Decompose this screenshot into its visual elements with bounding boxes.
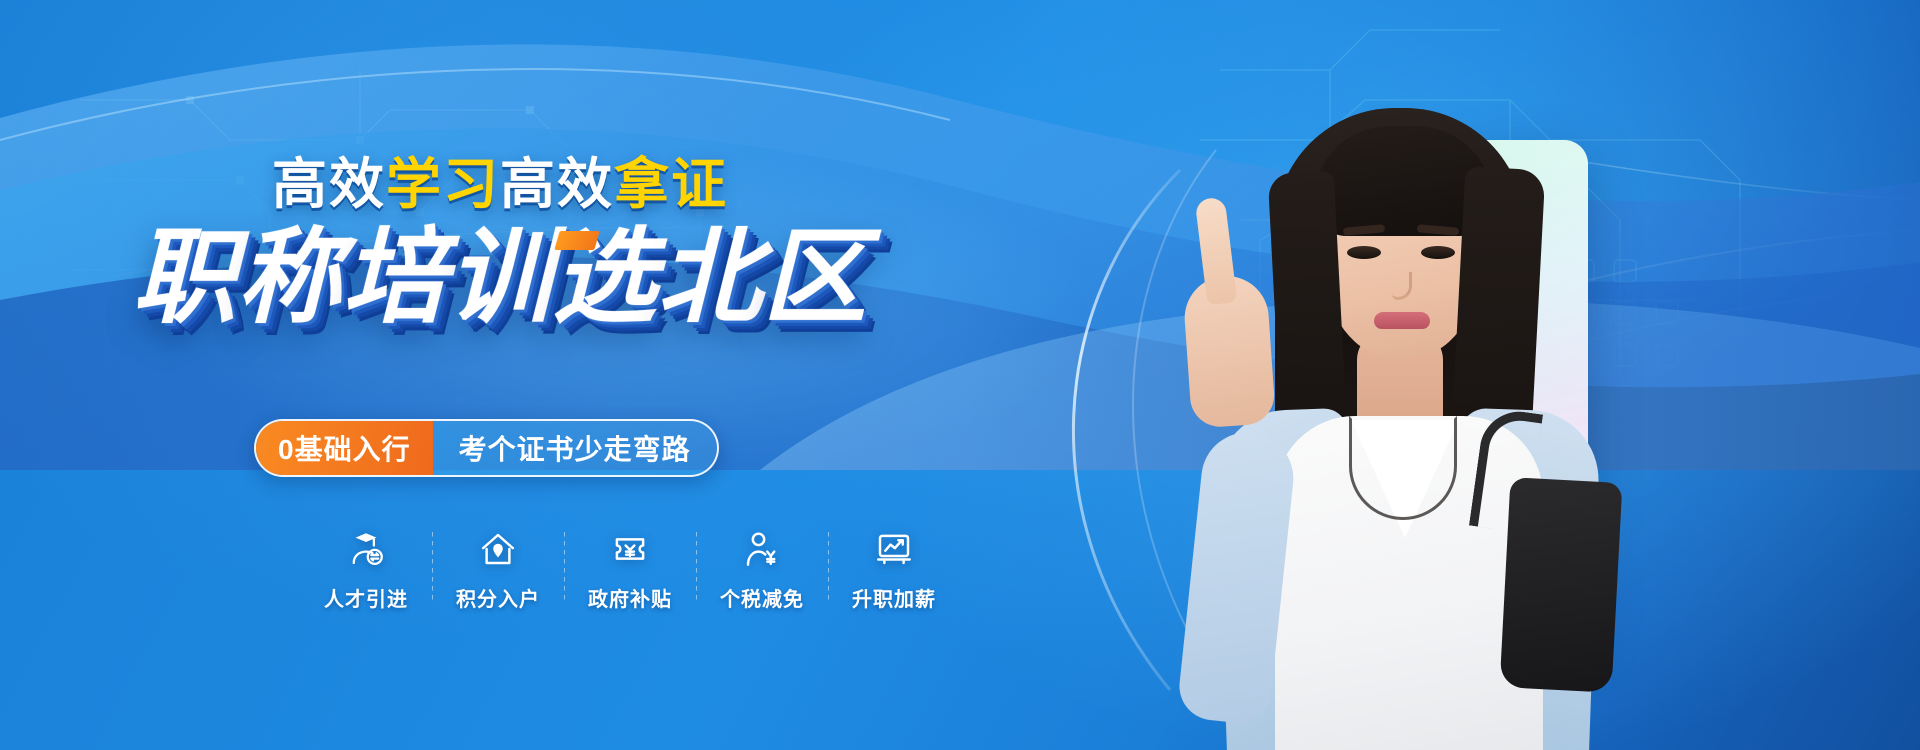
kicker-line: 高效学习高效拿证	[0, 157, 1000, 212]
subsidy-ticket-icon	[607, 526, 653, 572]
kicker-segment-4: 拿证	[614, 157, 728, 212]
headline-char-3: 培	[342, 225, 447, 331]
kicker-segment-1: 高效	[272, 157, 386, 212]
orange-accent-wedge	[554, 231, 599, 250]
feature-label: 积分入户	[456, 583, 540, 612]
feature-item-promotion: 升职加薪	[828, 526, 960, 612]
model-eye-left	[1347, 246, 1381, 259]
headline-char-5: 选	[553, 225, 658, 331]
headline-char-4: 训	[447, 225, 552, 331]
headline-char-6: 北	[658, 225, 763, 331]
copy-block: 高效学习高效拿证 职称培训选北区 0基础入行 考个证书少走弯路 人才引进	[0, 0, 1150, 750]
model-necklace	[1349, 416, 1457, 520]
graduate-talent-icon	[343, 526, 389, 572]
headline-char-7: 区	[763, 225, 868, 331]
model-photo	[1125, 80, 1685, 750]
headline-char-1: 职	[132, 225, 237, 331]
model-eye-right	[1421, 246, 1455, 259]
page-title: 职称培训选北区	[0, 225, 1000, 331]
house-pin-icon	[475, 526, 521, 572]
feature-item-subsidy: 政府补贴	[564, 526, 696, 612]
person-yuan-icon	[739, 526, 785, 572]
badge-primary-label: 0基础入行	[256, 421, 433, 475]
status-badge: 0基础入行 考个证书少走弯路	[254, 419, 719, 477]
model-bag	[1500, 477, 1623, 693]
feature-label: 个税减免	[720, 583, 804, 612]
promo-banner: 高效学习高效拿证 职称培训选北区 0基础入行 考个证书少走弯路 人才引进	[0, 0, 1920, 750]
model-mouth	[1374, 312, 1430, 329]
hero-visual	[1020, 0, 1920, 750]
badge-secondary-label: 考个证书少走弯路	[433, 421, 717, 475]
feature-item-household: 积分入户	[432, 526, 564, 612]
feature-label: 升职加薪	[852, 583, 936, 612]
feature-label: 人才引进	[324, 583, 408, 612]
kicker-segment-3: 高效	[500, 157, 614, 212]
feature-item-talent: 人才引进	[300, 526, 432, 612]
feature-item-tax: 个税减免	[696, 526, 828, 612]
headline-char-2: 称	[237, 225, 342, 331]
growth-chart-icon	[871, 526, 917, 572]
feature-list: 人才引进 积分入户	[300, 526, 960, 612]
kicker-segment-2: 学习	[386, 157, 500, 212]
feature-label: 政府补贴	[588, 583, 672, 612]
